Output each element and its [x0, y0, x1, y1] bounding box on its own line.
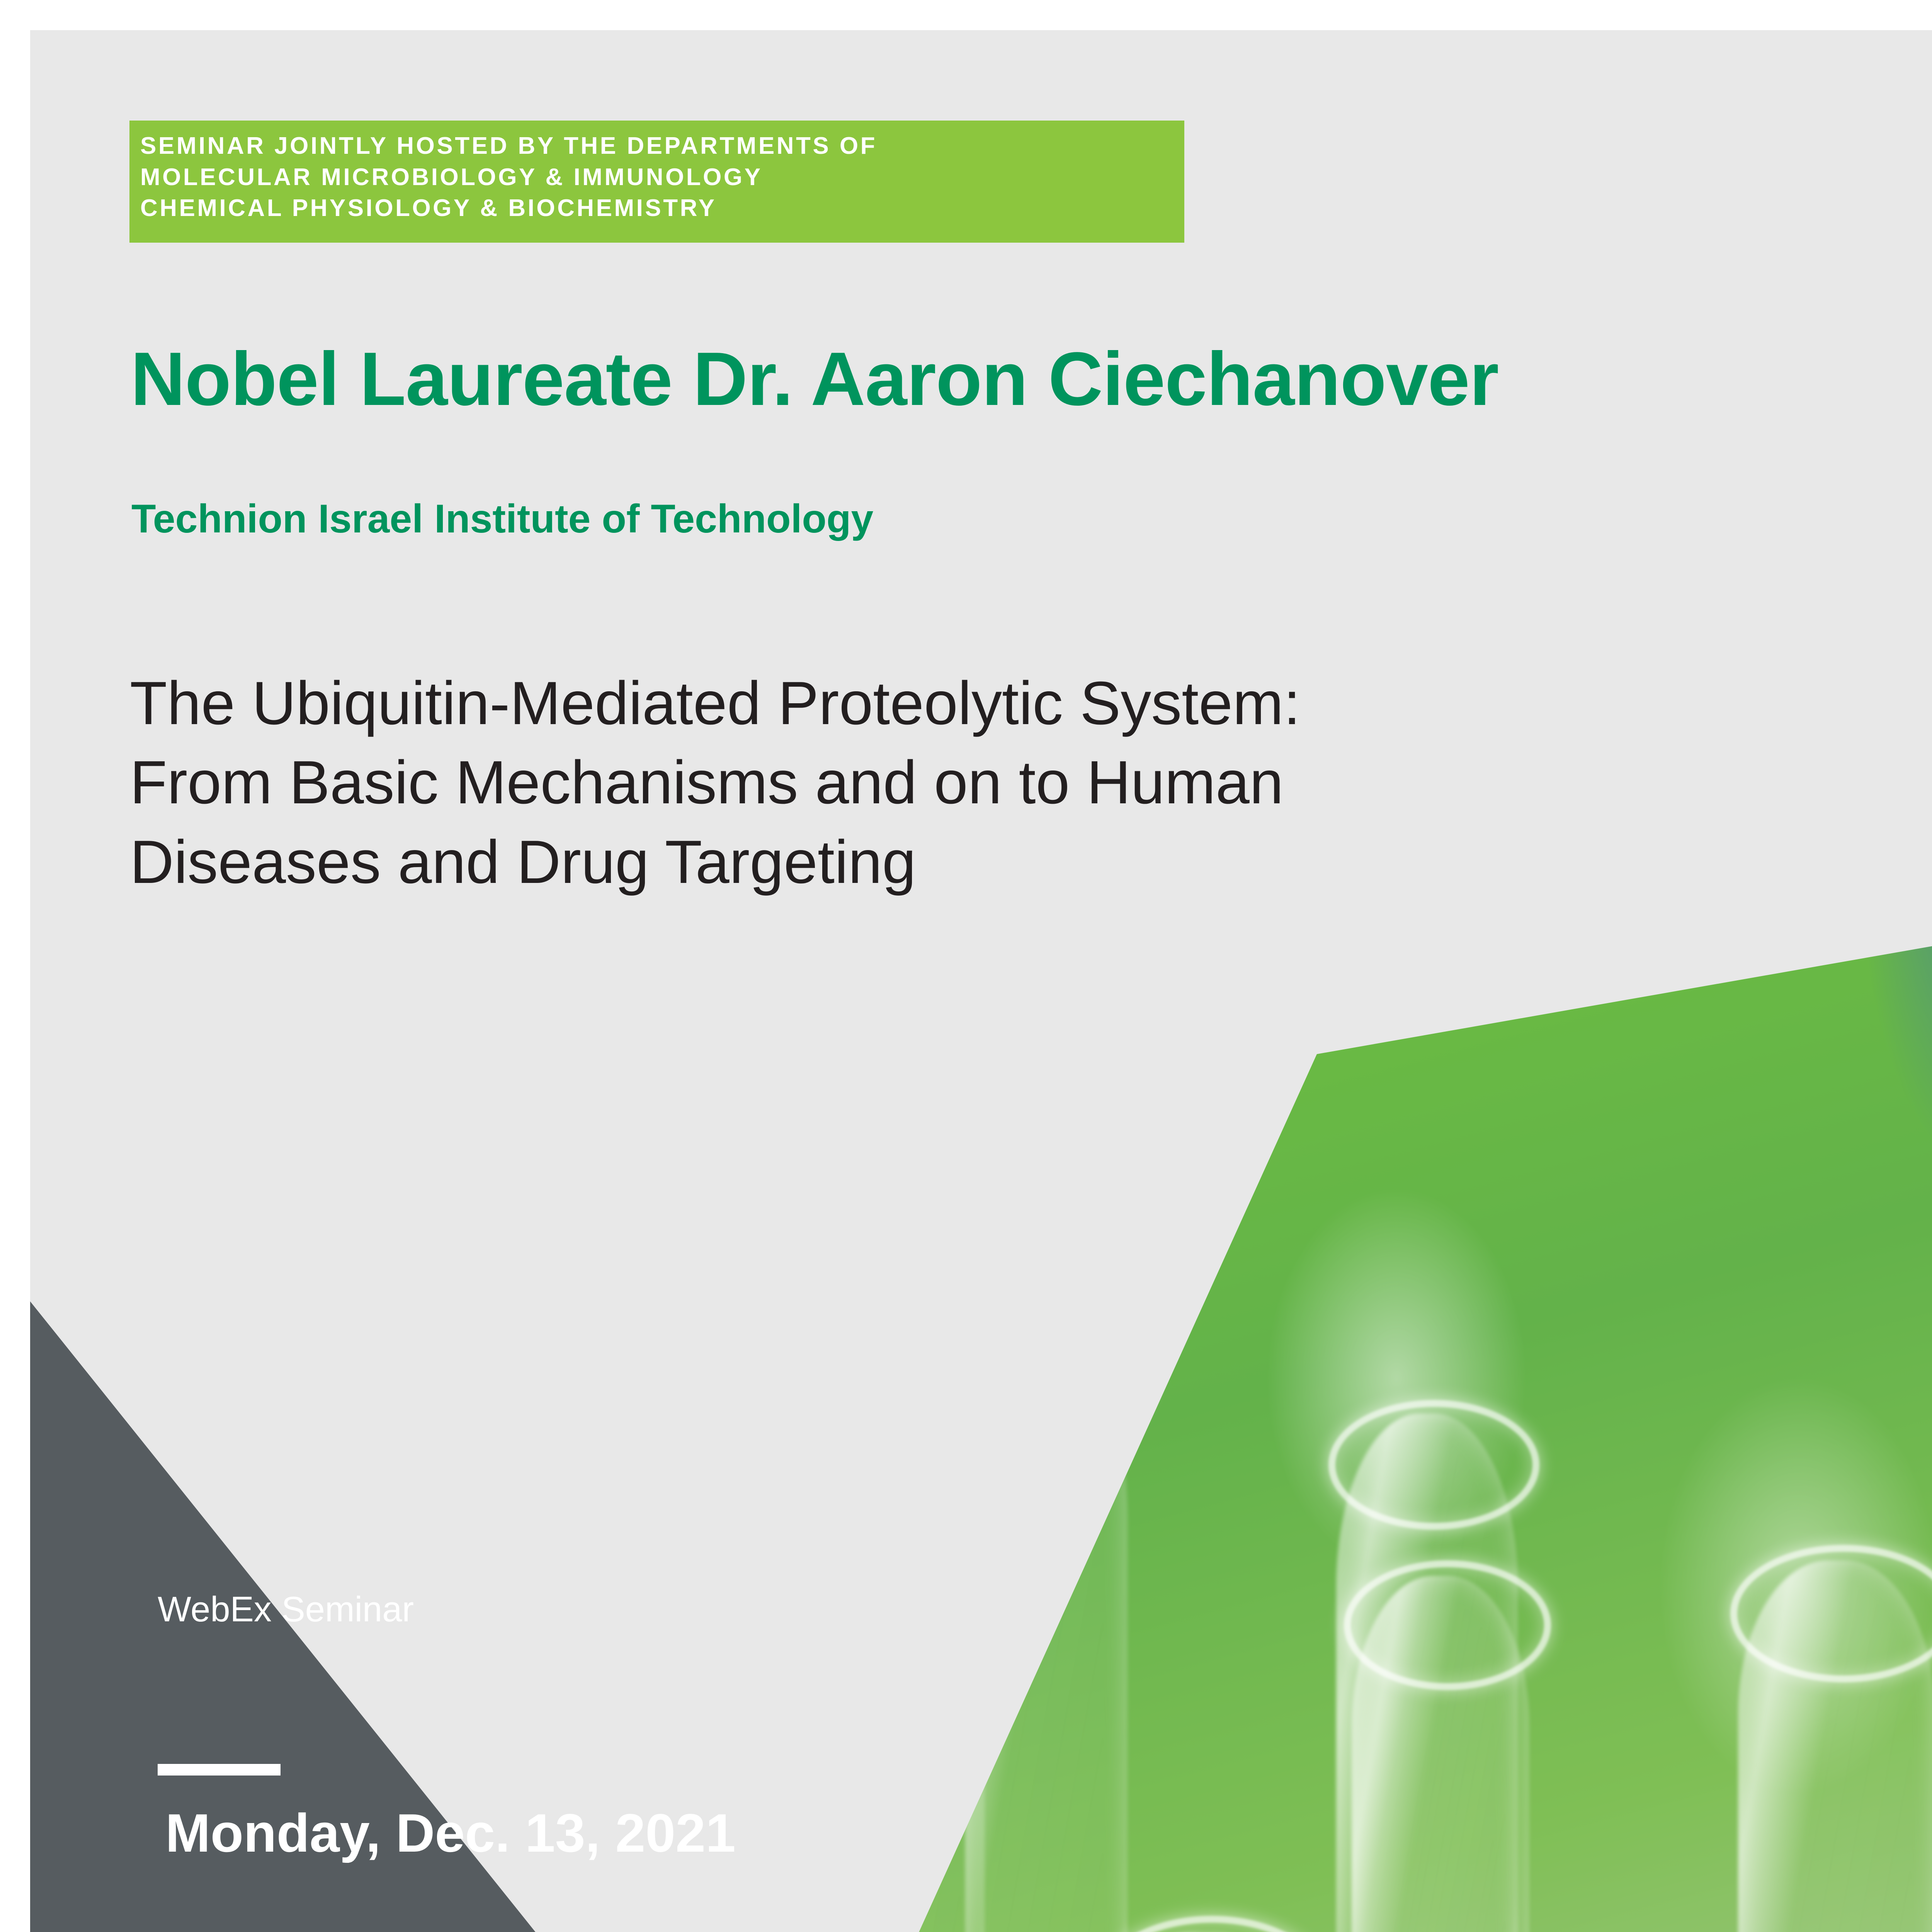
banner-line-3: CHEMICAL PHYSIOLOGY & BIOCHEMISTRY [140, 193, 1184, 224]
talk-title-line-2: From Basic Mechanisms and on to Human [130, 743, 1695, 822]
department-banner: SEMINAR JOINTLY HOSTED BY THE DEPARTMENT… [129, 121, 1184, 243]
glass-tube-rim [957, 1325, 1149, 1443]
glass-tube [598, 1495, 760, 1932]
talk-title-line-3: Diseases and Drug Targeting [130, 823, 1695, 902]
event-time: 9:00 - 10:00 a.m. [158, 1925, 561, 1932]
seminar-poster: SEMINAR JOINTLY HOSTED BY THE DEPARTMENT… [30, 30, 1932, 1932]
talk-title: The Ubiquitin-Mediated Proteolytic Syste… [130, 664, 1695, 902]
event-date: Monday, Dec. 13, 2021 [165, 1802, 736, 1864]
talk-title-line-1: The Ubiquitin-Mediated Proteolytic Syste… [130, 664, 1695, 743]
banner-line-2: MOLECULAR MICROBIOLOGY & IMMUNOLOGY [140, 162, 1184, 193]
glass-tube [803, 1526, 985, 1932]
liquid-stream [1039, 1278, 1049, 1390]
glass-tube-rim [795, 1510, 1006, 1640]
glass-tube-rim [1344, 1560, 1551, 1690]
banner-line-1: SEMINAR JOINTLY HOSTED BY THE DEPARTMENT… [140, 131, 1184, 162]
liquid-droplet [1016, 1313, 1070, 1413]
speaker-affiliation: Technion Israel Institute of Technology [131, 496, 873, 542]
test-tubes-photo [30, 30, 1932, 1932]
speaker-name: Nobel Laureate Dr. Aaron Ciechanover [131, 335, 1498, 422]
divider-rule [158, 1764, 281, 1776]
glass-tube-rim [590, 1483, 782, 1601]
glass-tube-rim [1328, 1400, 1539, 1530]
glass-tube [965, 1336, 1128, 1932]
seminar-format: WebEx Seminar [158, 1589, 414, 1630]
photo-background [30, 30, 1932, 1932]
